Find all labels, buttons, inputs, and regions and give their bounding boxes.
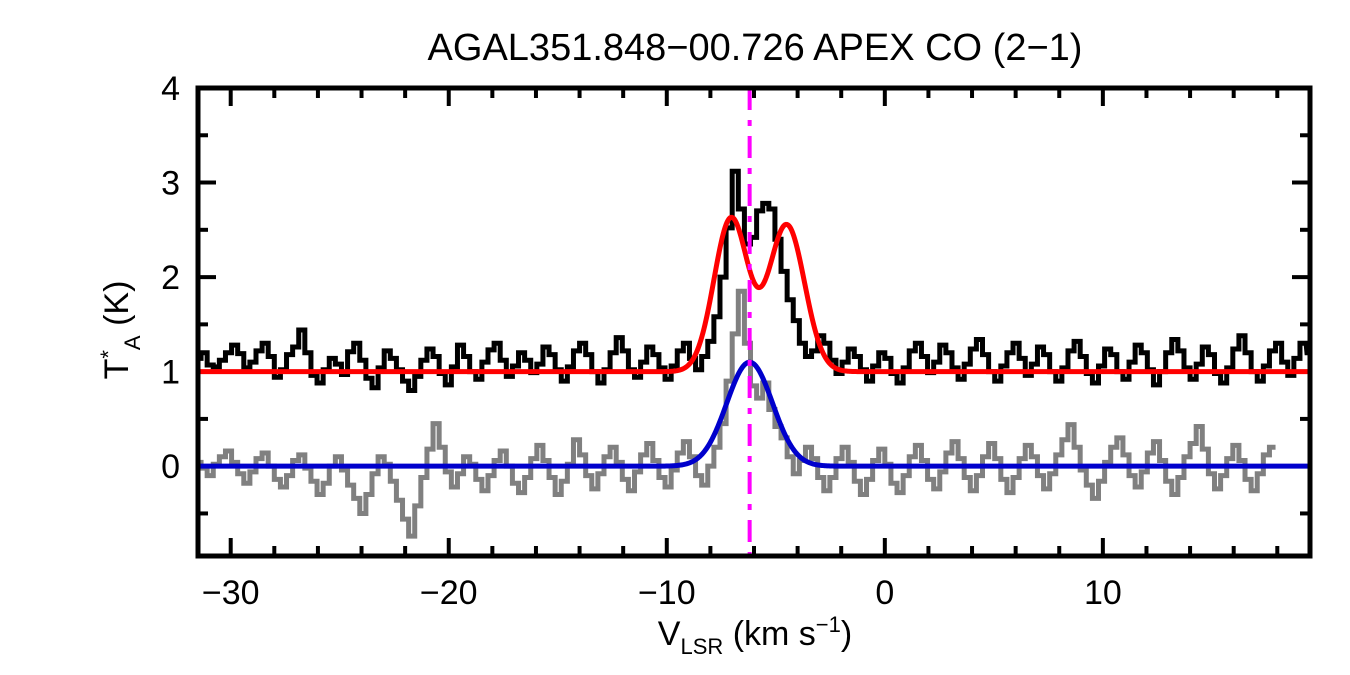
- x-axis-label-unit-post: ): [841, 615, 852, 653]
- x-axis-label-lsr: LSR: [680, 634, 723, 659]
- x-tick-label: −30: [202, 574, 260, 612]
- y-tick-label: 1: [161, 354, 180, 392]
- y-tick-label: 4: [161, 70, 180, 108]
- y-tick-label: 3: [161, 165, 180, 203]
- y-tick-label: 0: [161, 448, 180, 486]
- x-axis-label-unit-pre: (km s: [723, 615, 816, 653]
- x-tick-label: −10: [638, 574, 696, 612]
- y-axis-label-unit: (K): [98, 281, 136, 336]
- x-axis-label-exponent: −1: [816, 612, 841, 637]
- plot-title: AGAL351.848−00.726 APEX CO (2−1): [428, 27, 1083, 69]
- spectrum-figure: AGAL351.848−00.726 APEX CO (2−1) T*A (K)…: [0, 0, 1350, 675]
- x-tick-label: 10: [1084, 574, 1122, 612]
- x-axis-label-v: V: [658, 615, 681, 653]
- spectrum-plot-svg: AGAL351.848−00.726 APEX CO (2−1) T*A (K)…: [0, 0, 1350, 675]
- y-axis-label-star: *: [96, 350, 121, 359]
- y-tick-label: 2: [161, 259, 180, 297]
- x-tick-label: 0: [875, 574, 894, 612]
- x-tick-label: −20: [420, 574, 478, 612]
- y-axis-label-t: T: [98, 359, 136, 380]
- y-axis-label-a: A: [120, 335, 145, 350]
